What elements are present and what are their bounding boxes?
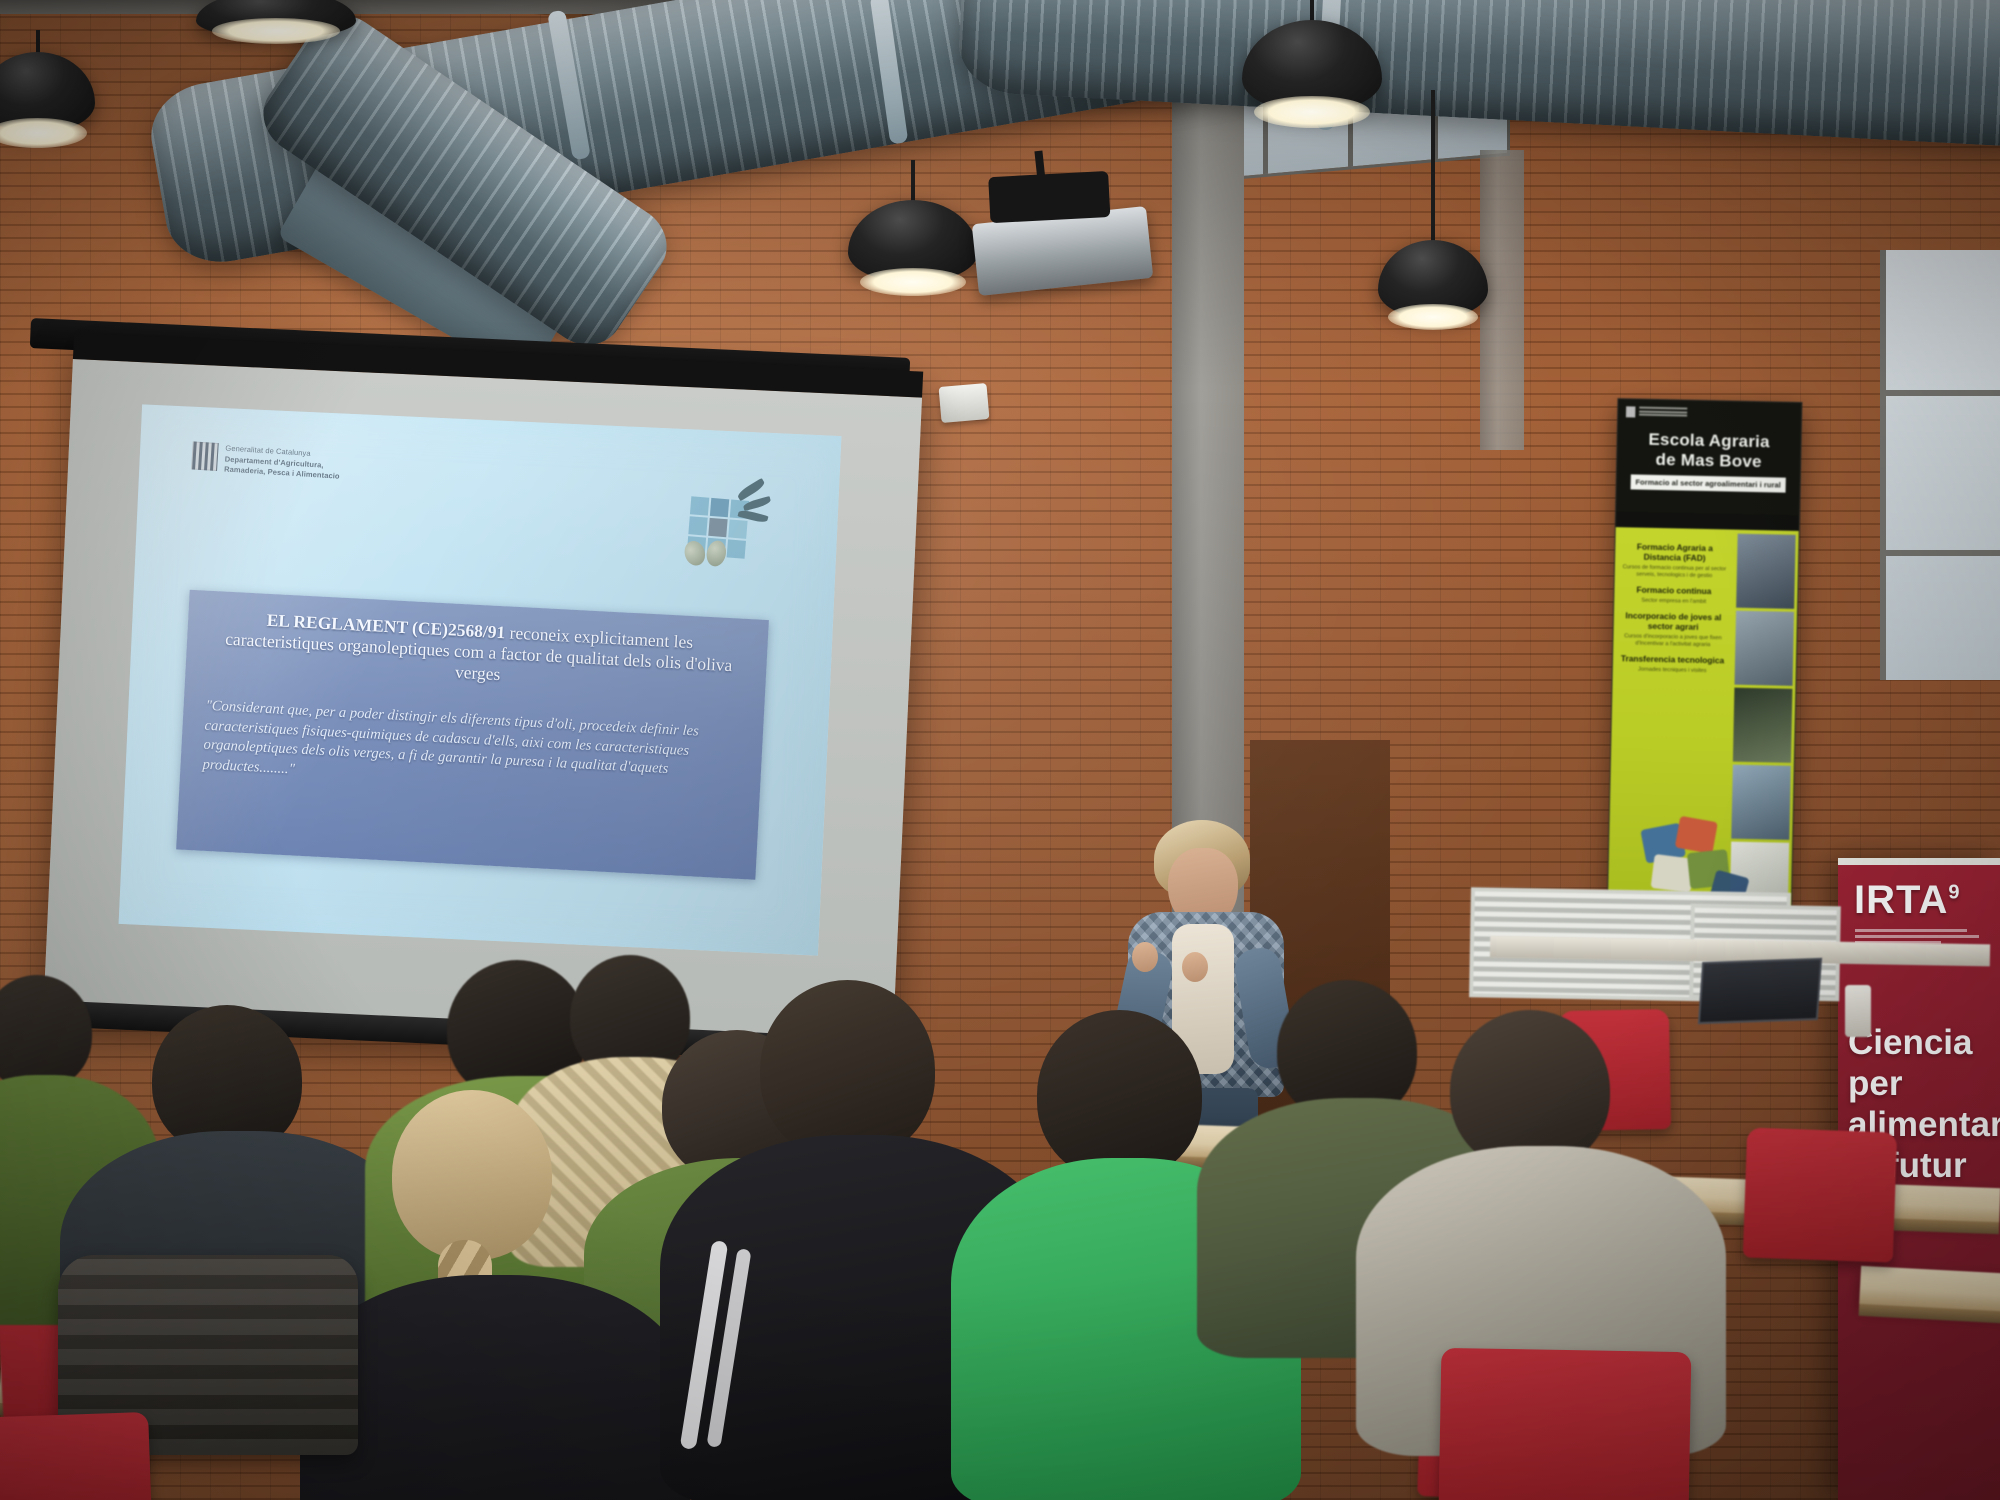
pendant-lamp	[0, 30, 95, 170]
poster-section-body: Cursos de formacio continua per al secto…	[1622, 564, 1727, 580]
laptop	[1698, 958, 1822, 1024]
poster-header: Escola Agraria de Mas Bove Formacio al s…	[1616, 399, 1801, 515]
head	[0, 975, 92, 1090]
audience-member	[330, 1090, 660, 1500]
torso	[300, 1275, 690, 1500]
poster-mas-bove: Escola Agraria de Mas Bove Formacio al s…	[1607, 398, 1803, 922]
poster-section-heading: Formacio continua	[1621, 584, 1726, 596]
projector-mount	[988, 171, 1110, 223]
irta-logo-sup: 9	[1948, 882, 1960, 904]
poster-section-heading: Formacio Agraria a Distancia (FAD)	[1622, 541, 1727, 563]
chair	[0, 1412, 152, 1500]
poster-title-line1: Escola Agraria	[1625, 429, 1792, 452]
chair	[1743, 1127, 1897, 1262]
head	[392, 1090, 552, 1260]
poster-title: Escola Agraria de Mas Bove	[1625, 429, 1793, 472]
head	[760, 980, 935, 1160]
poster-title-line2: de Mas Bove	[1625, 449, 1792, 472]
head	[1037, 1010, 1202, 1180]
irta-logo-text: IRTA	[1854, 878, 1948, 922]
slide-quote: "Considerant que, per a poder distingir …	[202, 697, 745, 803]
pendant-lamp	[196, 0, 356, 60]
pendant-lamp	[848, 160, 978, 310]
poster-subtitle: Formacio al sector agroalimentari i rura…	[1631, 474, 1786, 492]
pendant-lamp	[1242, 0, 1382, 150]
slide-headline: EL REGLAMENT (CE)2568/91 reconeix explic…	[208, 607, 751, 698]
poster-section-heading: Incorporacio de joves al sector agrari	[1621, 610, 1726, 632]
olive-branch-icon	[672, 473, 771, 570]
lecture-hall-photo: Generalitat de Catalunya Departament d'A…	[0, 0, 2000, 1500]
water-bottle	[1845, 985, 1871, 1037]
poster-section-heading: Transferencia tecnologica	[1620, 653, 1725, 665]
presenter-hand-right	[1182, 952, 1208, 982]
smoke-detector	[939, 383, 990, 423]
poster-body: Formacio Agraria a Distancia (FAD) Curso…	[1608, 527, 1799, 921]
slide-highlight-band: EL REGLAMENT (CE)2568/91 reconeix explic…	[176, 590, 769, 880]
generalitat-logo: Generalitat de Catalunya Departament d'A…	[191, 441, 341, 481]
irta-slogan-line-2: per	[1848, 1063, 2000, 1104]
desk-right-edge	[1859, 1266, 2000, 1314]
presenter-hand-left	[1132, 942, 1158, 972]
poster-section-body: Sector empresa en l'ambit	[1621, 597, 1726, 606]
poster-section-body: Cursos d'incorporacio a joves que fixen …	[1620, 633, 1725, 649]
poster-section-body: Jornades tecniques i visites	[1620, 666, 1725, 675]
irta-logo: IRTA9	[1854, 878, 2000, 923]
poster-small-logo-icon	[1626, 406, 1793, 420]
chair	[1439, 1348, 1692, 1500]
catalonia-flag-icon	[191, 441, 219, 471]
pendant-lamp	[1378, 90, 1488, 340]
projected-slide: Generalitat de Catalunya Departament d'A…	[119, 404, 842, 955]
